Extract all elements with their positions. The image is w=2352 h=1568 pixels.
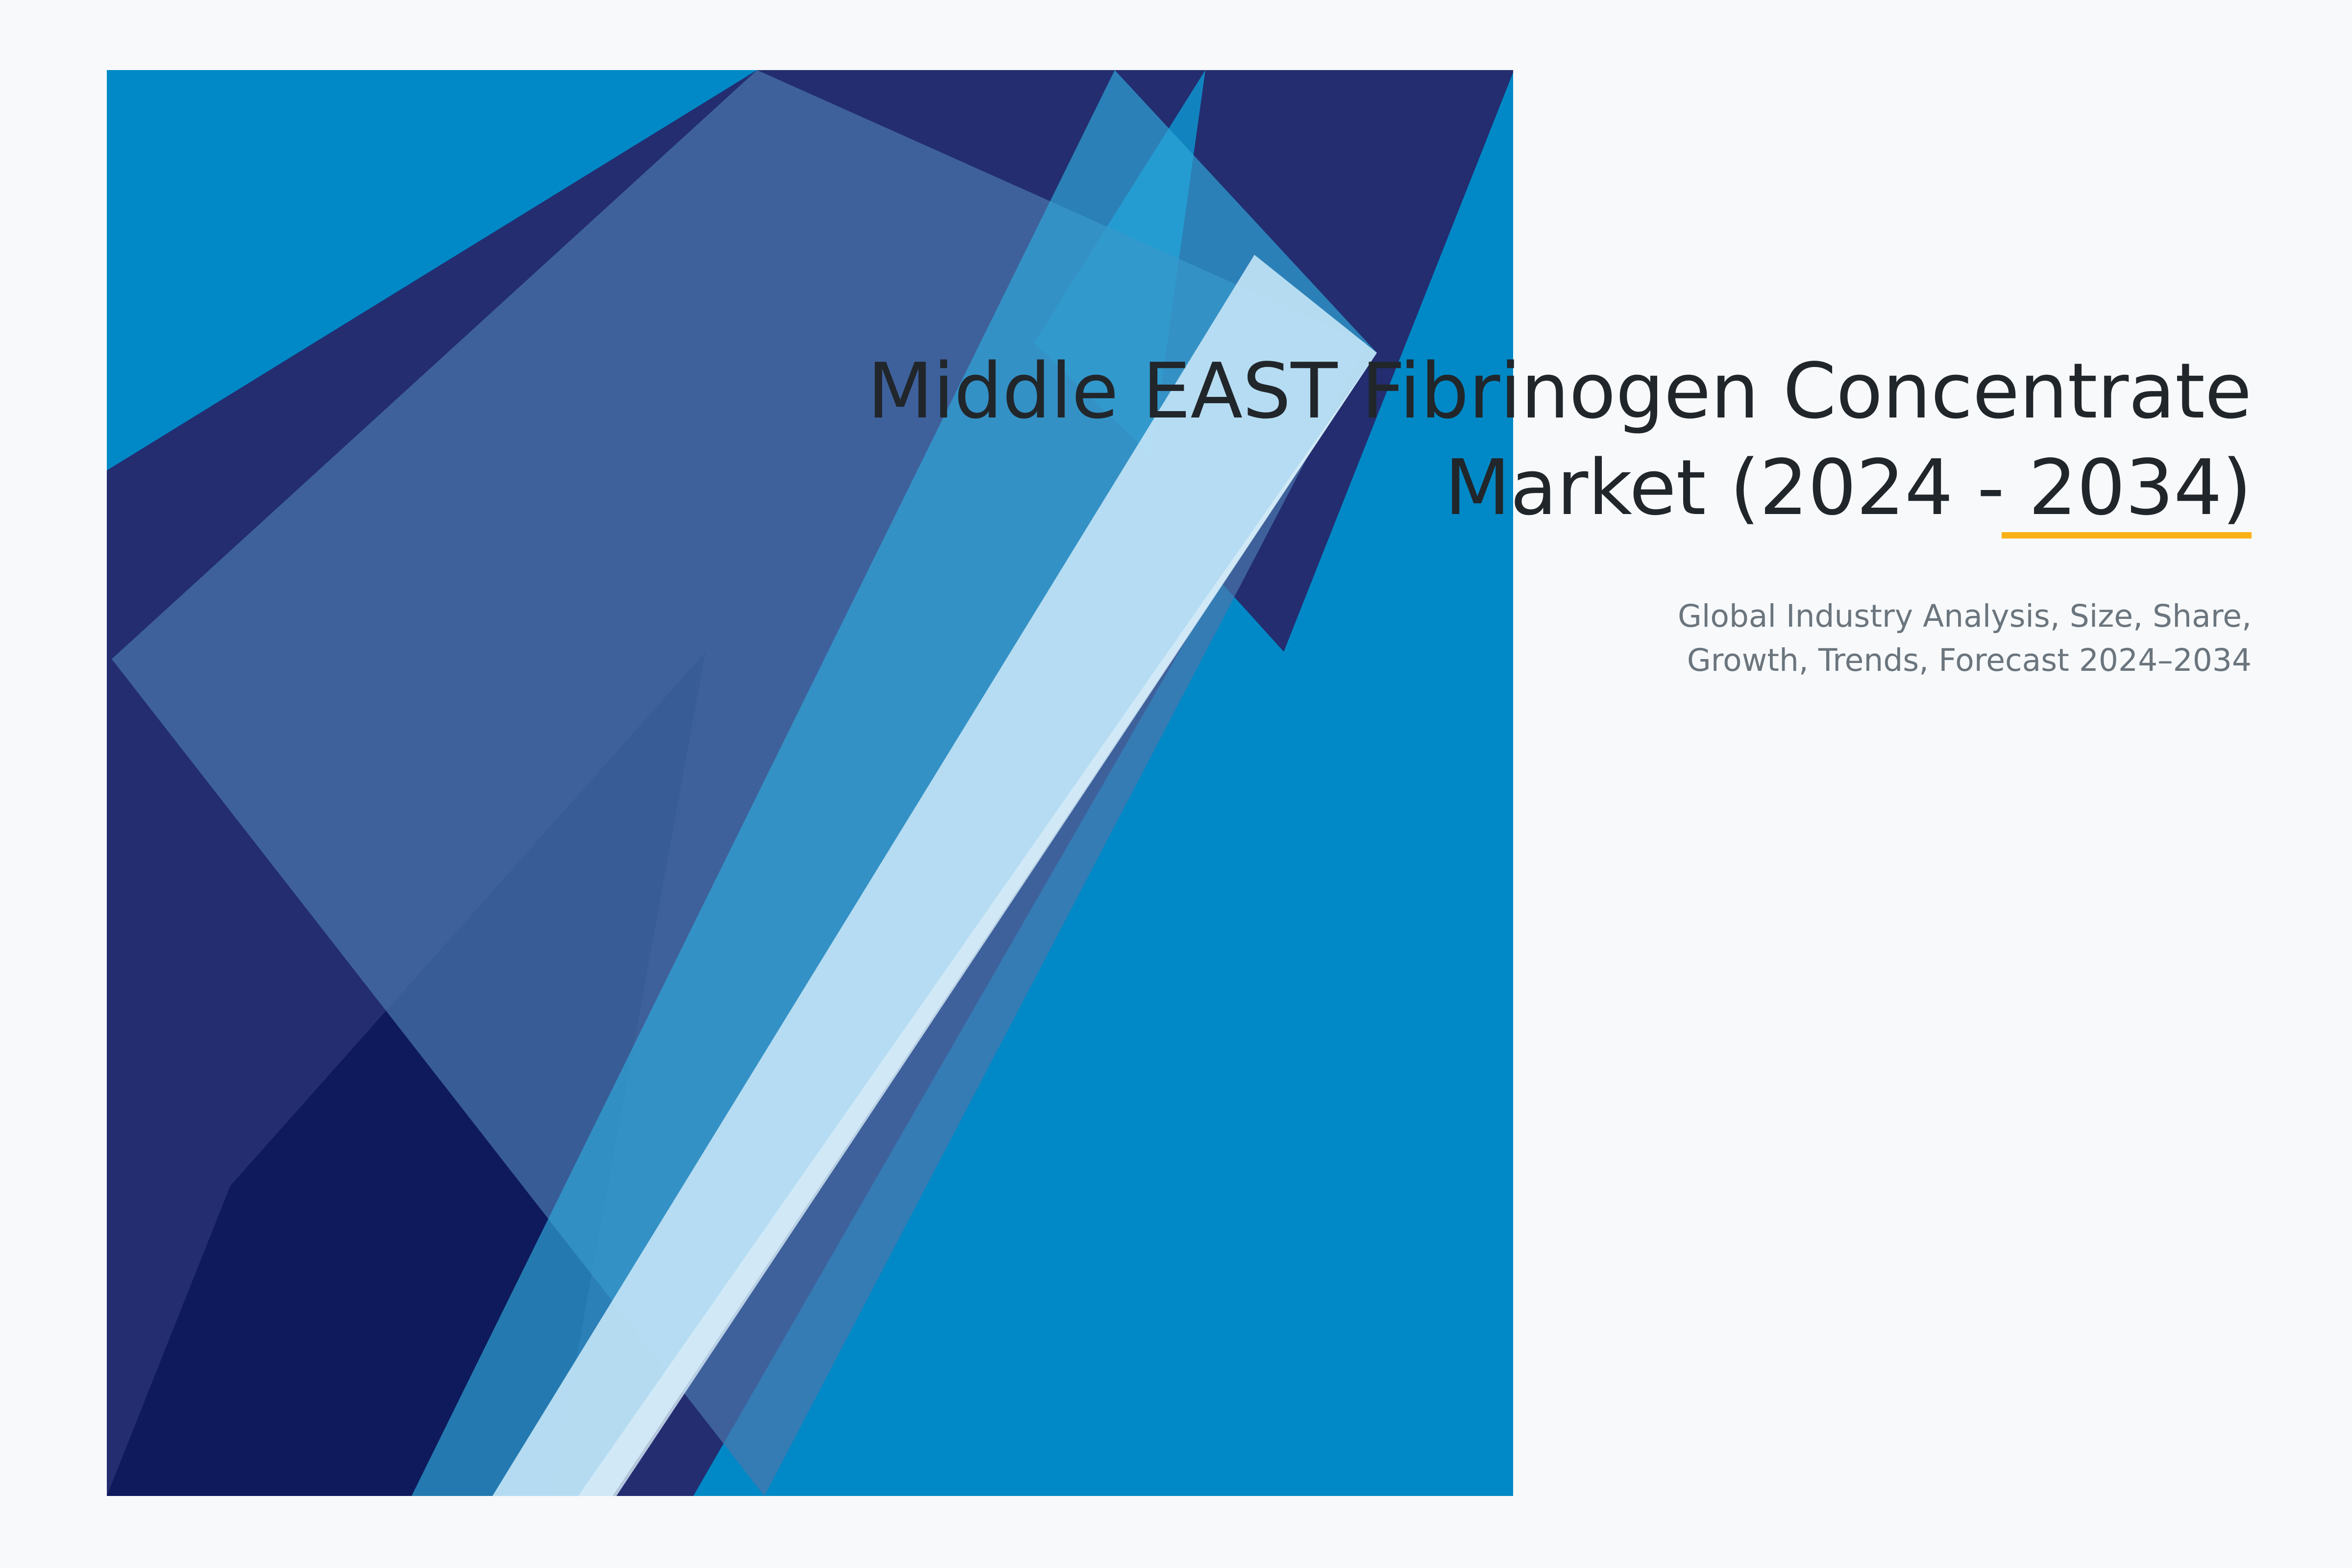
- page-subtitle: Global Industry Analysis, Size, Share, G…: [831, 594, 2252, 682]
- page-title: Middle EAST Fibrinogen Concentrate Marke…: [831, 343, 2252, 536]
- abstract-geometric-artwork: [0, 0, 2352, 1568]
- cover-text-block: Middle EAST Fibrinogen Concentrate Marke…: [831, 343, 2252, 682]
- report-cover-page: Middle EAST Fibrinogen Concentrate Marke…: [0, 0, 2352, 1568]
